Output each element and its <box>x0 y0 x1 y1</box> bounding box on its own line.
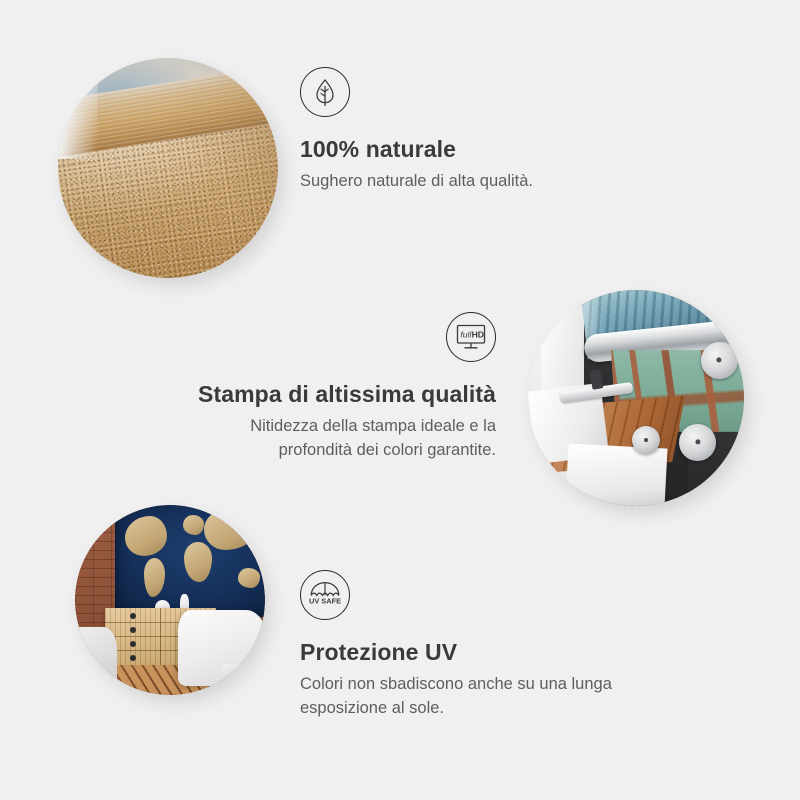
room-photo-armchair-left <box>75 627 117 684</box>
print-photo-wheel-center <box>632 426 660 454</box>
leaf-icon <box>300 67 350 117</box>
print-photo-wheel-top <box>701 342 738 379</box>
feature-title: Protezione UV <box>300 639 700 666</box>
map-continent-south-america <box>144 558 165 597</box>
print-photo-wheel-bottom <box>679 424 716 461</box>
full-hd-monitor-icon: full HD <box>446 312 496 362</box>
feature-description: Nitidezza della stampa ideale e la profo… <box>186 415 496 463</box>
map-continent-north-america <box>125 516 167 556</box>
map-continent-australia <box>238 568 261 588</box>
feature-natural: 100% naturale Sughero naturale di alta q… <box>300 67 720 194</box>
cork-photo-highlight <box>58 58 98 159</box>
uv-safe-umbrella-icon: UV SAFE <box>300 570 350 620</box>
room-photo-world-map-art <box>115 505 265 617</box>
feature-description: Colori non sbadiscono anche su una lunga… <box>300 673 700 721</box>
feature-uv-protection: UV SAFE Protezione UV Colori non sbadisc… <box>300 570 700 721</box>
map-continent-africa <box>184 542 211 582</box>
svg-text:HD: HD <box>472 329 484 339</box>
feature-description: Sughero naturale di alta qualità. <box>300 170 720 194</box>
cork-texture-photo <box>58 58 278 278</box>
product-features-page: 100% naturale Sughero naturale di alta q… <box>0 0 800 800</box>
uv-safe-label: UV SAFE <box>309 597 341 606</box>
feature-title: 100% naturale <box>300 136 720 163</box>
map-continent-europe <box>183 515 204 535</box>
map-continent-asia <box>204 509 257 550</box>
feature-title: Stampa di altissima qualità <box>186 381 496 408</box>
room-photo-armchair <box>178 610 265 686</box>
interior-world-map-photo <box>75 505 265 695</box>
printing-machine-photo <box>528 290 744 506</box>
feature-print-quality: full HD Stampa di altissima qualità Niti… <box>186 312 496 463</box>
